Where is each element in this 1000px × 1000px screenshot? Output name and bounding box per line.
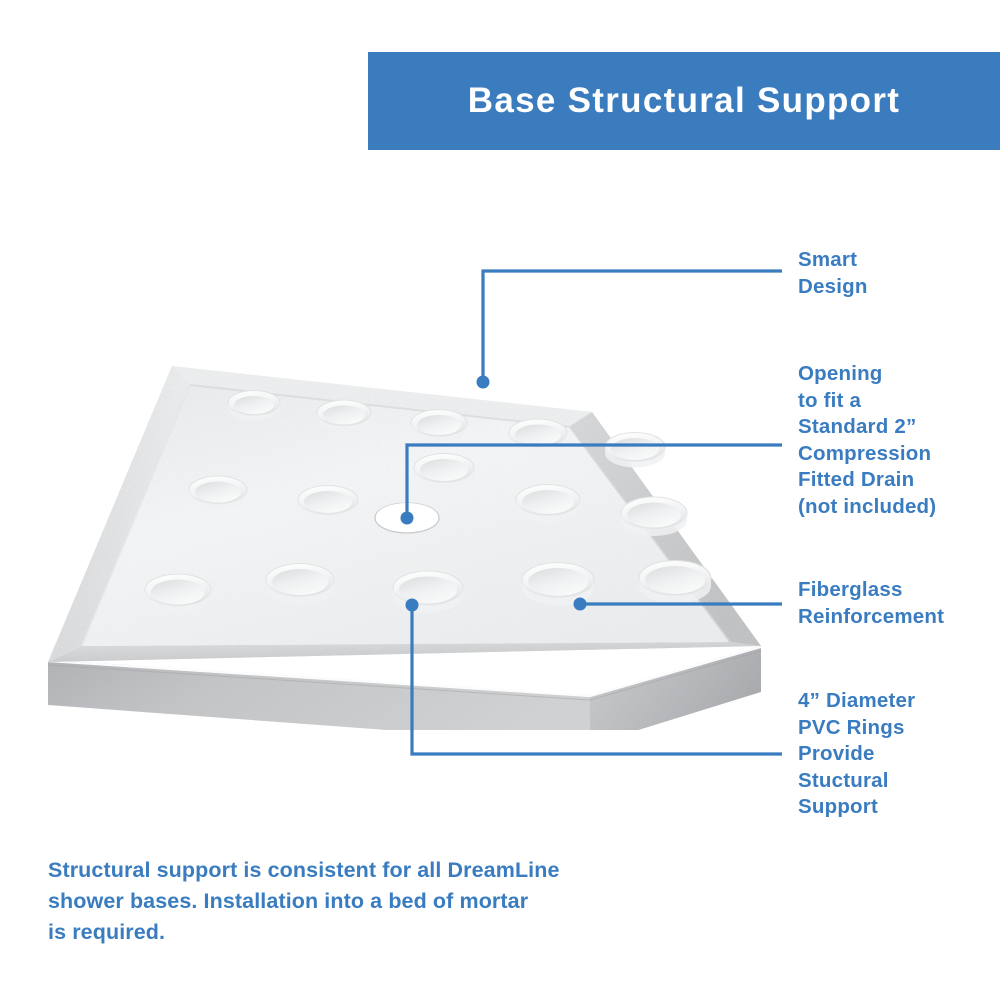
pvc-ring (509, 419, 567, 453)
title-banner: Base Structural Support (368, 52, 1000, 150)
callout-label-smart-design: Smart Design (798, 247, 998, 300)
pvc-ring (621, 497, 687, 536)
footer-caption: Structural support is consistent for all… (48, 855, 688, 948)
pvc-ring (228, 391, 280, 421)
callout-label-fiberglass: Fiberglass Reinforcement (798, 577, 998, 630)
pvc-ring (605, 433, 665, 468)
callout-label-drain-opening: Opening to fit a Standard 2” Compression… (798, 361, 1000, 520)
pvc-ring (189, 476, 247, 510)
pvc-ring (145, 574, 211, 613)
pvc-ring (414, 454, 474, 489)
infographic-page: Base Structural Support (0, 0, 1000, 1000)
pvc-ring (522, 563, 594, 606)
drain-opening (375, 503, 439, 533)
page-title: Base Structural Support (468, 81, 900, 121)
pvc-ring (317, 400, 371, 431)
pvc-ring (298, 486, 358, 521)
pvc-ring (639, 561, 711, 604)
pvc-ring (393, 571, 463, 613)
pvc-ring (266, 564, 334, 605)
pvc-ring (516, 485, 580, 523)
pvc-ring (411, 410, 467, 442)
callout-label-pvc-rings: 4” Diameter PVC Rings Provide Stuctural … (798, 688, 998, 821)
shower-base-illustration (30, 350, 790, 730)
